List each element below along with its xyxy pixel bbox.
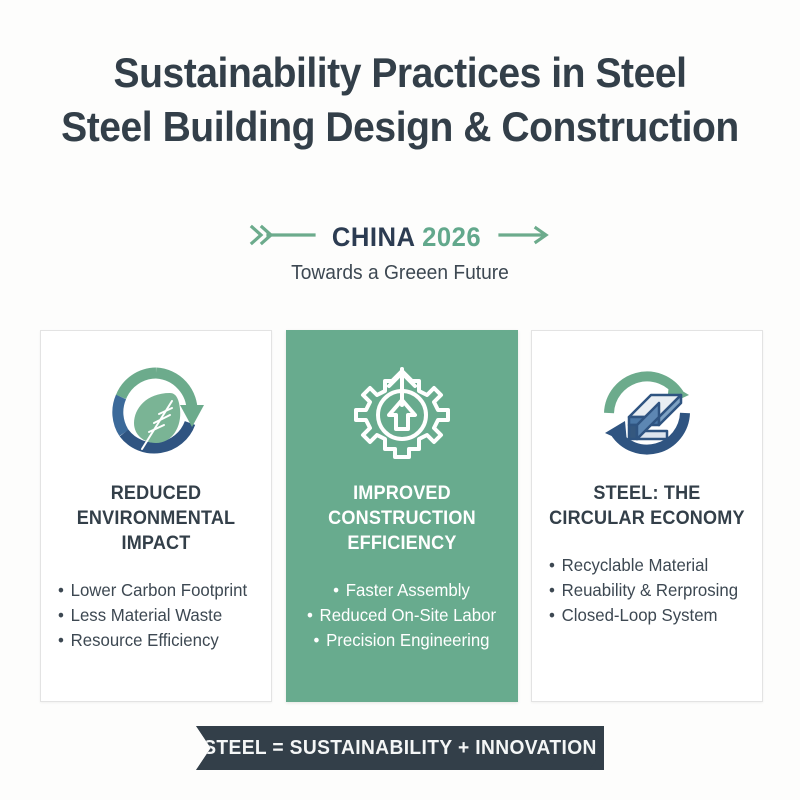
card-bullet-list: Recyclable Material Reuability & Rerpros… — [549, 553, 746, 628]
steel-beam-recycle-icon — [593, 357, 701, 469]
gear-up-arrow-icon — [347, 357, 457, 469]
card-improved-construction-efficiency[interactable]: IMPROVED CONSTRUCTION EFFICIENCY Faster … — [286, 330, 518, 702]
title-line-2: Steel Building Design & Construction — [28, 100, 772, 154]
list-item: Less Material Waste — [58, 603, 247, 628]
card-row: REDUCED ENVIRONMENTAL IMPACT Lower Carbo… — [40, 330, 763, 702]
list-item: Closed-Loop System — [549, 603, 738, 628]
card-heading: IMPROVED CONSTRUCTION EFFICIENCY — [292, 481, 511, 556]
eyebrow-country: CHINA — [332, 222, 416, 252]
title-line-1: Sustainability Practices in Steel — [28, 46, 772, 100]
fletched-arrow-icon — [248, 223, 316, 252]
card-reduced-environmental-impact[interactable]: REDUCED ENVIRONMENTAL IMPACT Lower Carbo… — [40, 330, 272, 702]
footer-ribbon: STEEL = SUSTAINABILITY + INNOVATION — [196, 726, 604, 770]
eyebrow-label: CHINA2026 — [332, 222, 481, 253]
footer-ribbon-text: STEEL = SUSTAINABILITY + INNOVATION — [203, 737, 597, 760]
list-item: Resource Efficiency — [58, 628, 247, 653]
card-bullet-list: Lower Carbon Footprint Less Material Was… — [58, 578, 255, 653]
list-item: Lower Carbon Footprint — [58, 578, 247, 603]
card-steel-circular-economy[interactable]: STEEL: THE CIRCULAR ECONOMY Recyclable M… — [531, 330, 763, 702]
card-bullet-list: Faster Assembly Reduced On-Site Labor Pr… — [303, 578, 500, 653]
eyebrow-year: 2026 — [423, 222, 482, 252]
footer-ribbon-body: STEEL = SUSTAINABILITY + INNOVATION — [196, 726, 604, 770]
list-item: Faster Assembly — [307, 578, 496, 603]
eyebrow-subtitle: Towards a Greeen Future — [16, 262, 784, 285]
list-item: Reuability & Rerprosing — [549, 578, 738, 603]
list-item: Recyclable Material — [549, 553, 738, 578]
infographic-poster: Sustainability Practices in Steel Steel … — [0, 0, 800, 800]
eyebrow-row: CHINA2026 — [0, 222, 800, 253]
card-heading: REDUCED ENVIRONMENTAL IMPACT — [47, 481, 266, 556]
arrow-right-icon — [498, 223, 552, 252]
recycle-leaf-icon — [102, 357, 210, 469]
list-item: Precision Engineering — [307, 628, 496, 653]
card-heading: STEEL: THE CIRCULAR ECONOMY — [549, 481, 745, 531]
list-item: Reduced On-Site Labor — [307, 603, 496, 628]
page-title: Sustainability Practices in Steel Steel … — [0, 46, 800, 154]
